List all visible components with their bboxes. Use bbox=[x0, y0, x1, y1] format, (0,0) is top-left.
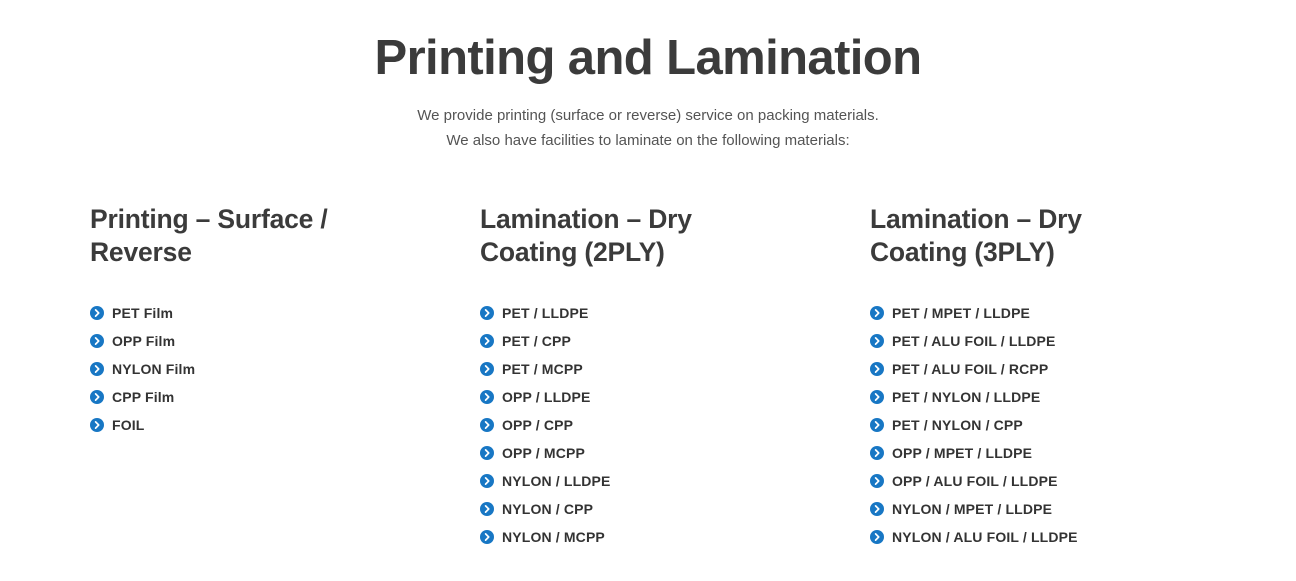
item-label: PET / CPP bbox=[502, 334, 571, 348]
list-item: NYLON / MPET / LLDPE bbox=[870, 495, 1206, 523]
circle-chevron-right-icon bbox=[90, 418, 104, 432]
list-item: OPP / LLDPE bbox=[480, 383, 780, 411]
circle-chevron-right-icon bbox=[480, 306, 494, 320]
list-item: NYLON / LLDPE bbox=[480, 467, 780, 495]
circle-chevron-right-icon bbox=[870, 474, 884, 488]
item-label: PET / LLDPE bbox=[502, 306, 588, 320]
item-label: FOIL bbox=[112, 418, 144, 432]
list-item: PET / ALU FOIL / LLDPE bbox=[870, 327, 1206, 355]
circle-chevron-right-icon bbox=[870, 530, 884, 544]
column-lamination-dry-coating-2ply: Lamination – Dry Coating (2PLY) PET / LL… bbox=[390, 203, 780, 551]
circle-chevron-right-icon bbox=[870, 334, 884, 348]
list-item: NYLON / ALU FOIL / LLDPE bbox=[870, 523, 1206, 551]
item-label: PET / NYLON / LLDPE bbox=[892, 390, 1040, 404]
circle-chevron-right-icon bbox=[90, 334, 104, 348]
list-item: FOIL bbox=[90, 411, 390, 439]
list-item: PET / MPET / LLDPE bbox=[870, 299, 1206, 327]
column-title: Lamination – Dry Coating (2PLY) bbox=[480, 203, 780, 269]
item-label: PET / ALU FOIL / RCPP bbox=[892, 362, 1048, 376]
circle-chevron-right-icon bbox=[870, 502, 884, 516]
circle-chevron-right-icon bbox=[480, 474, 494, 488]
circle-chevron-right-icon bbox=[480, 390, 494, 404]
list-item: PET / ALU FOIL / RCPP bbox=[870, 355, 1206, 383]
material-columns: Printing – Surface / Reverse PET Film OP… bbox=[0, 203, 1296, 551]
item-label: NYLON Film bbox=[112, 362, 195, 376]
list-item: PET / CPP bbox=[480, 327, 780, 355]
subtitle-line-2: We also have facilities to laminate on t… bbox=[0, 128, 1296, 153]
list-item: PET / NYLON / LLDPE bbox=[870, 383, 1206, 411]
subtitle-line-1: We provide printing (surface or reverse)… bbox=[0, 103, 1296, 128]
item-label: PET Film bbox=[112, 306, 173, 320]
list-item: PET / NYLON / CPP bbox=[870, 411, 1206, 439]
item-label: PET / MCPP bbox=[502, 362, 583, 376]
circle-chevron-right-icon bbox=[480, 418, 494, 432]
item-label: OPP / CPP bbox=[502, 418, 573, 432]
item-label: OPP / LLDPE bbox=[502, 390, 591, 404]
item-label: OPP / MPET / LLDPE bbox=[892, 446, 1032, 460]
circle-chevron-right-icon bbox=[480, 502, 494, 516]
list-item: NYLON / CPP bbox=[480, 495, 780, 523]
item-label: OPP / ALU FOIL / LLDPE bbox=[892, 474, 1058, 488]
page-header: Printing and Lamination We provide print… bbox=[0, 0, 1296, 153]
circle-chevron-right-icon bbox=[90, 390, 104, 404]
list-item: OPP / CPP bbox=[480, 411, 780, 439]
item-label: NYLON / CPP bbox=[502, 502, 593, 516]
column-printing-surface-reverse: Printing – Surface / Reverse PET Film OP… bbox=[0, 203, 390, 551]
circle-chevron-right-icon bbox=[480, 334, 494, 348]
list-item: OPP / ALU FOIL / LLDPE bbox=[870, 467, 1206, 495]
list-item: NYLON Film bbox=[90, 355, 390, 383]
list-item: CPP Film bbox=[90, 383, 390, 411]
column-title: Printing – Surface / Reverse bbox=[90, 203, 390, 269]
list-item: PET / MCPP bbox=[480, 355, 780, 383]
list-item: PET Film bbox=[90, 299, 390, 327]
printing-lamination-page: Printing and Lamination We provide print… bbox=[0, 0, 1296, 581]
list-item: OPP / MPET / LLDPE bbox=[870, 439, 1206, 467]
page-title: Printing and Lamination bbox=[0, 30, 1296, 88]
circle-chevron-right-icon bbox=[870, 306, 884, 320]
column-title: Lamination – Dry Coating (3PLY) bbox=[870, 203, 1170, 269]
circle-chevron-right-icon bbox=[480, 362, 494, 376]
material-list: PET Film OPP Film NYLON Film bbox=[90, 299, 390, 439]
circle-chevron-right-icon bbox=[480, 446, 494, 460]
list-item: OPP / MCPP bbox=[480, 439, 780, 467]
circle-chevron-right-icon bbox=[870, 418, 884, 432]
item-label: PET / NYLON / CPP bbox=[892, 418, 1023, 432]
circle-chevron-right-icon bbox=[90, 362, 104, 376]
material-list: PET / MPET / LLDPE PET / ALU FOIL / LLDP… bbox=[870, 299, 1206, 551]
item-label: NYLON / LLDPE bbox=[502, 474, 611, 488]
list-item: NYLON / MCPP bbox=[480, 523, 780, 551]
item-label: PET / MPET / LLDPE bbox=[892, 306, 1030, 320]
page-subtitle: We provide printing (surface or reverse)… bbox=[0, 103, 1296, 153]
item-label: NYLON / MCPP bbox=[502, 530, 605, 544]
circle-chevron-right-icon bbox=[90, 306, 104, 320]
circle-chevron-right-icon bbox=[870, 390, 884, 404]
list-item: OPP Film bbox=[90, 327, 390, 355]
list-item: PET / LLDPE bbox=[480, 299, 780, 327]
item-label: CPP Film bbox=[112, 390, 174, 404]
circle-chevron-right-icon bbox=[870, 446, 884, 460]
material-list: PET / LLDPE PET / CPP PET / MCPP bbox=[480, 299, 780, 551]
item-label: OPP / MCPP bbox=[502, 446, 585, 460]
item-label: NYLON / ALU FOIL / LLDPE bbox=[892, 530, 1078, 544]
item-label: OPP Film bbox=[112, 334, 175, 348]
item-label: PET / ALU FOIL / LLDPE bbox=[892, 334, 1056, 348]
circle-chevron-right-icon bbox=[480, 530, 494, 544]
item-label: NYLON / MPET / LLDPE bbox=[892, 502, 1052, 516]
column-lamination-dry-coating-3ply: Lamination – Dry Coating (3PLY) PET / MP… bbox=[780, 203, 1206, 551]
circle-chevron-right-icon bbox=[870, 362, 884, 376]
